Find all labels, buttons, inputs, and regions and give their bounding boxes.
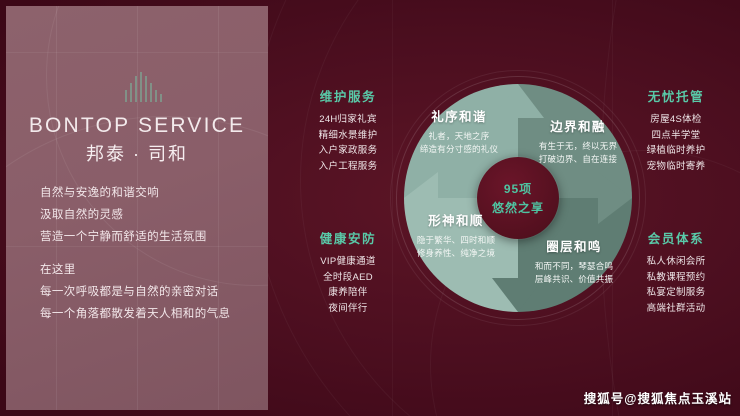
brand-copy: 自然与安逸的和谐交响 汲取自然的灵感 营造一个宁静而舒适的生活氛围 在这里 每一… xyxy=(40,182,254,325)
wave-motif-icon xyxy=(125,72,171,102)
category-item: VIP健康通道 xyxy=(294,254,402,270)
category-item: 精细水景维护 xyxy=(294,128,402,144)
wheel-label-line: 层峰共识、价值共振 xyxy=(510,273,638,286)
brand-copy-line: 营造一个宁静而舒适的生活氛围 xyxy=(40,226,254,248)
category-item: 私人休闲会所 xyxy=(622,254,730,270)
wheel-label-title: 礼序和谐 xyxy=(400,106,518,125)
wheel-label-line: 有生于无，终以无界 xyxy=(516,140,640,153)
watermark: 搜狐号@搜狐焦点玉溪站 xyxy=(584,388,732,407)
service-wheel-diagram: 95项 悠然之享 礼序和谐 礼者，天地之序 缔造有分寸感的礼仪 边界和融 有生于… xyxy=(404,84,632,312)
wheel-label-bottom-left: 形神和顺 隐于繁华、四时和顺 修身养性、纯净之境 xyxy=(396,210,516,260)
category-item: 私教课程预约 xyxy=(622,270,730,286)
wheel-label-title: 边界和融 xyxy=(516,116,640,135)
wheel-label-top-right: 边界和融 有生于无，终以无界 打破边界、自在连接 xyxy=(516,116,640,166)
brand-title-en: BONTOP SERVICE xyxy=(6,114,268,138)
wheel-arrow-right-icon xyxy=(598,172,632,224)
wheel-label-line: 和而不同，琴瑟合鸣 xyxy=(510,260,638,273)
brand-panel: BONTOP SERVICE 邦泰 · 司和 自然与安逸的和谐交响 汲取自然的灵… xyxy=(6,6,268,410)
wheel-label-line: 礼者，天地之序 xyxy=(400,130,518,143)
category-item: 高端社群活动 xyxy=(622,301,730,317)
category-item: 入户工程服务 xyxy=(294,159,402,175)
wheel-label-bottom-right: 圈层和鸣 和而不同，琴瑟合鸣 层峰共识、价值共振 xyxy=(510,236,638,286)
wheel-label-title: 形神和顺 xyxy=(396,210,516,229)
brand-copy-line: 每一个角落都散发着天人相和的气息 xyxy=(40,303,254,325)
brand-copy-line: 每一次呼吸都是与自然的亲密对话 xyxy=(40,281,254,303)
brand-copy-line: 自然与安逸的和谐交响 xyxy=(40,182,254,204)
brand-title-cn: 邦泰 · 司和 xyxy=(6,140,268,166)
wheel-label-top-left: 礼序和谐 礼者，天地之序 缔造有分寸感的礼仪 xyxy=(400,106,518,156)
brand-copy-line: 汲取自然的灵感 xyxy=(40,204,254,226)
wheel-label-line: 隐于繁华、四时和顺 xyxy=(396,234,516,247)
wheel-label-title: 圈层和鸣 xyxy=(510,236,638,255)
category-item: 入户家政服务 xyxy=(294,143,402,159)
brand-copy-line: 在这里 xyxy=(40,259,254,281)
category-title: 无忧托管 xyxy=(622,86,730,105)
category-item: 24H归家礼宾 xyxy=(294,112,402,128)
category-title: 维护服务 xyxy=(294,86,402,105)
wheel-label-line: 修身养性、纯净之境 xyxy=(396,247,516,260)
category-item: 全时段AED xyxy=(294,270,402,286)
category-item: 康养陪伴 xyxy=(294,285,402,301)
category-item: 私宴定制服务 xyxy=(622,285,730,301)
hub-count: 95项 xyxy=(504,180,532,197)
slide-canvas: BONTOP SERVICE 邦泰 · 司和 自然与安逸的和谐交响 汲取自然的灵… xyxy=(0,0,740,416)
category-maintenance: 维护服务 24H归家礼宾 精细水景维护 入户家政服务 入户工程服务 xyxy=(294,86,402,174)
category-item: 夜间伴行 xyxy=(294,301,402,317)
category-title: 健康安防 xyxy=(294,228,402,247)
category-health-security: 健康安防 VIP健康通道 全时段AED 康养陪伴 夜间伴行 xyxy=(294,228,402,316)
wheel-label-line: 缔造有分寸感的礼仪 xyxy=(400,143,518,156)
wheel-label-line: 打破边界、自在连接 xyxy=(516,153,640,166)
